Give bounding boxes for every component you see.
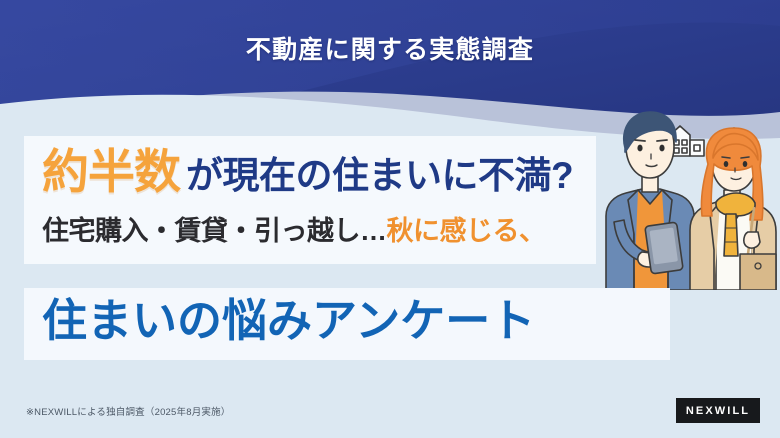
headline-line-3: 住まいの悩みアンケート <box>42 298 535 343</box>
headline-line-1: 約半数が現在の住まいに不満? <box>42 148 573 195</box>
headline-rest: が現在の住まいに不満? <box>186 155 573 196</box>
subhead-orange: 秋に感じる、 <box>387 216 546 246</box>
headline-line-2: 住宅購入・賃貸・引っ越し…秋に感じる、 <box>42 218 546 245</box>
nexwill-logo: NEXWILL <box>676 398 760 423</box>
survey-footnote: ※NEXWILLによる独自調査（2025年8月実施） <box>26 404 231 418</box>
poster-canvas: 不動産に関する実態調査 <box>0 0 780 438</box>
couple-illustration <box>598 104 780 290</box>
headline-highlight: 約半数 <box>42 145 180 198</box>
page-title: 不動産に関する実態調査 <box>0 30 780 66</box>
nexwill-logo-text: NEXWILL <box>686 405 750 417</box>
subhead-dark: 住宅購入・賃貸・引っ越し… <box>42 216 387 246</box>
